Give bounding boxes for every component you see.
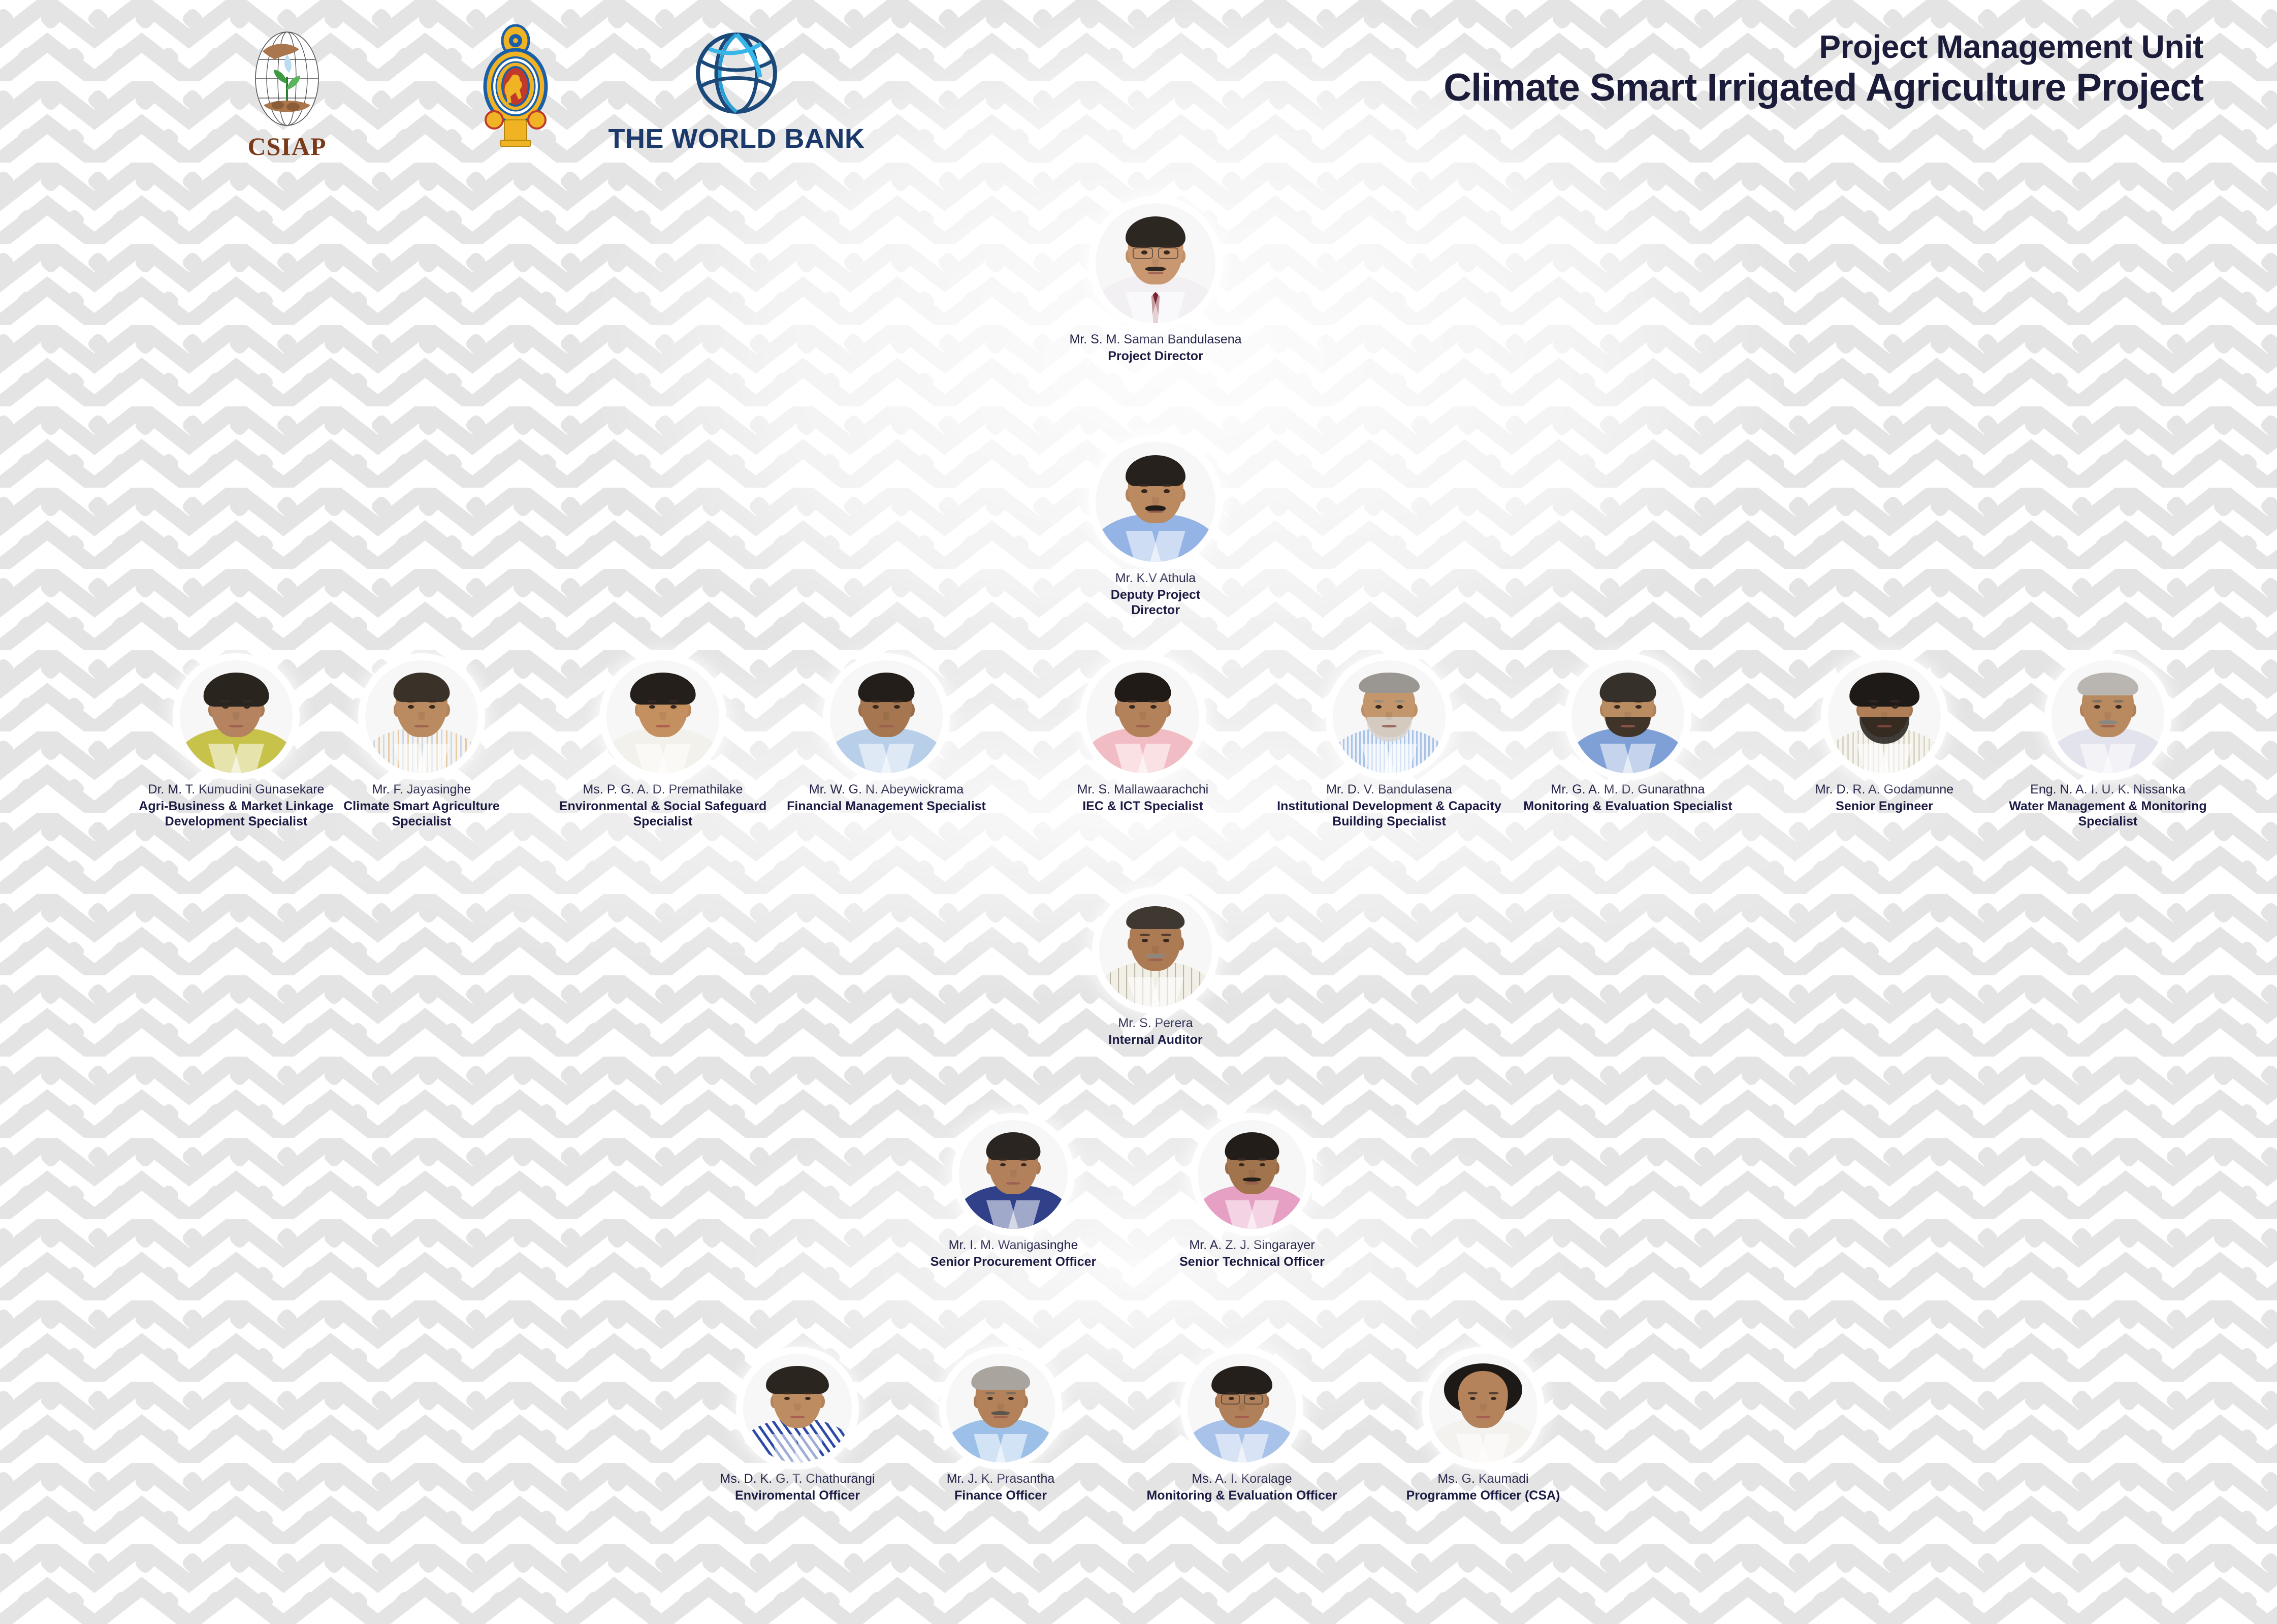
avatar-climate-smart-agriculture-specialist bbox=[365, 660, 478, 773]
person-role: Water Management & Monitoring Specialist bbox=[1996, 799, 2220, 829]
person-card-deputy-project-director[interactable]: Mr. K.V Athula Deputy Project Director bbox=[1087, 442, 1224, 618]
avatar-agri-business-specialist bbox=[180, 660, 293, 773]
person-card-project-director[interactable]: Mr. S. M. Saman Bandulasena Project Dire… bbox=[1087, 203, 1224, 364]
person-role: Programme Officer (CSA) bbox=[1406, 1488, 1560, 1503]
person-role: Monitoring & Evaluation Specialist bbox=[1523, 799, 1732, 814]
person-card-climate-smart-agriculture-specialist[interactable]: Mr. F. Jayasinghe Climate Smart Agricult… bbox=[315, 660, 528, 829]
person-card-water-management-specialist[interactable]: Eng. N. A. I. U. K. Nissanka Water Manag… bbox=[1996, 660, 2220, 829]
person-name: Mr. F. Jayasinghe bbox=[372, 782, 471, 798]
avatar-financial-management-specialist bbox=[830, 660, 943, 773]
person-card-iec-ict-specialist[interactable]: Mr. S. Mallawaarachchi IEC & ICT Special… bbox=[1036, 660, 1249, 814]
person-role: Enviromental Officer bbox=[735, 1488, 860, 1503]
person-card-senior-procurement-officer[interactable]: Mr. I. M. Wanigasinghe Senior Procuremen… bbox=[914, 1120, 1112, 1269]
csiap-logo: CSIAP bbox=[223, 28, 350, 161]
avatar-senior-technical-officer bbox=[1198, 1120, 1306, 1229]
person-role: Financial Management Specialist bbox=[787, 799, 986, 814]
person-name: Ms. A. I. Koralage bbox=[1192, 1472, 1292, 1487]
person-role: Environmental & Social Safeguard Special… bbox=[549, 799, 777, 829]
person-role: Senior Engineer bbox=[1836, 799, 1933, 814]
person-name: Mr. G. A. M. D. Gunarathna bbox=[1551, 782, 1705, 798]
page-title-line2: Climate Smart Irrigated Agriculture Proj… bbox=[1444, 67, 2203, 109]
person-card-monitoring-evaluation-officer[interactable]: Ms. A. I. Koralage Monitoring & Evaluati… bbox=[1130, 1354, 1354, 1503]
avatar-deputy-project-director bbox=[1096, 442, 1215, 562]
world-bank-logo: THE WORLD BANK bbox=[630, 30, 843, 154]
avatar-institutional-development-specialist bbox=[1333, 660, 1446, 773]
person-name: Mr. S. Perera bbox=[1118, 1016, 1193, 1031]
person-name: Mr. K.V Athula bbox=[1115, 571, 1196, 586]
person-name: Mr. J. K. Prasantha bbox=[947, 1472, 1055, 1487]
person-role: Deputy Project Director bbox=[1087, 587, 1224, 618]
person-card-institutional-development-specialist[interactable]: Mr. D. V. Bandulasena Institutional Deve… bbox=[1267, 660, 1511, 829]
person-name: Mr. D. R. A. Godamunne bbox=[1815, 782, 1953, 798]
person-name: Mr. A. Z. J. Singarayer bbox=[1189, 1238, 1314, 1253]
person-card-finance-officer[interactable]: Mr. J. K. Prasantha Finance Officer bbox=[914, 1354, 1087, 1503]
avatar-project-director bbox=[1096, 203, 1215, 323]
avatar-senior-procurement-officer bbox=[959, 1120, 1068, 1229]
avatar-monitoring-evaluation-specialist bbox=[1572, 660, 1684, 773]
person-name: Ms. D. K. G. T. Chathurangi bbox=[720, 1472, 875, 1487]
person-name: Mr. W. G. N. Abeywickrama bbox=[809, 782, 964, 798]
person-name: Ms. G. Kaumadi bbox=[1437, 1472, 1528, 1487]
header: CSIAP bbox=[0, 0, 2277, 183]
person-name: Mr. S. M. Saman Bandulasena bbox=[1069, 332, 1241, 347]
person-name: Ms. P. G. A. D. Premathilake bbox=[583, 782, 743, 798]
person-role: Institutional Development & Capacity Bui… bbox=[1267, 799, 1511, 829]
sri-lanka-government-emblem bbox=[460, 20, 571, 152]
person-card-financial-management-specialist[interactable]: Mr. W. G. N. Abeywickrama Financial Mana… bbox=[767, 660, 1006, 814]
person-card-senior-engineer[interactable]: Mr. D. R. A. Godamunne Senior Engineer bbox=[1778, 660, 1991, 814]
person-card-senior-technical-officer[interactable]: Mr. A. Z. J. Singarayer Senior Technical… bbox=[1158, 1120, 1346, 1269]
person-card-internal-auditor[interactable]: Mr. S. Perera Internal Auditor bbox=[1089, 894, 1222, 1047]
person-role: Senior Procurement Officer bbox=[931, 1254, 1096, 1269]
person-role: Senior Technical Officer bbox=[1179, 1254, 1325, 1269]
person-role: Monitoring & Evaluation Officer bbox=[1146, 1488, 1337, 1503]
page-title-line1: Project Management Unit bbox=[1444, 29, 2203, 65]
person-name: Mr. I. M. Wanigasinghe bbox=[949, 1238, 1078, 1253]
person-role: Climate Smart Agriculture Specialist bbox=[315, 799, 528, 829]
avatar-water-management-specialist bbox=[2051, 660, 2164, 773]
person-card-monitoring-evaluation-specialist[interactable]: Mr. G. A. M. D. Gunarathna Monitoring & … bbox=[1511, 660, 1745, 814]
person-role: Finance Officer bbox=[954, 1488, 1047, 1503]
avatar-finance-officer bbox=[946, 1354, 1055, 1462]
csiap-logo-caption: CSIAP bbox=[247, 132, 326, 161]
person-name: Eng. N. A. I. U. K. Nissanka bbox=[2030, 782, 2186, 798]
person-role: Project Director bbox=[1108, 348, 1203, 364]
avatar-programme-officer-csa bbox=[1429, 1354, 1537, 1462]
person-role: IEC & ICT Specialist bbox=[1082, 799, 1203, 814]
page-title: Project Management Unit Climate Smart Ir… bbox=[1444, 29, 2203, 109]
avatar-iec-ict-specialist bbox=[1086, 660, 1199, 773]
avatar-environmental-social-safeguard-specialist bbox=[606, 660, 719, 773]
csiap-globe-icon bbox=[246, 28, 328, 130]
world-bank-globe-icon bbox=[694, 30, 779, 116]
avatar-environmental-officer bbox=[743, 1354, 852, 1462]
world-bank-logo-caption: THE WORLD BANK bbox=[608, 123, 865, 154]
person-card-environmental-social-safeguard-specialist[interactable]: Ms. P. G. A. D. Premathilake Environment… bbox=[549, 660, 777, 829]
person-name: Dr. M. T. Kumudini Gunasekare bbox=[148, 782, 325, 798]
person-name: Mr. D. V. Bandulasena bbox=[1326, 782, 1452, 798]
person-card-environmental-officer[interactable]: Ms. D. K. G. T. Chathurangi Enviromental… bbox=[698, 1354, 896, 1503]
person-name: Mr. S. Mallawaarachchi bbox=[1077, 782, 1208, 798]
org-chart-board: CSIAP bbox=[0, 0, 2277, 1624]
government-emblem-icon bbox=[465, 20, 566, 152]
person-card-programme-officer-csa[interactable]: Ms. G. Kaumadi Programme Officer (CSA) bbox=[1382, 1354, 1585, 1503]
avatar-monitoring-evaluation-officer bbox=[1188, 1354, 1296, 1462]
avatar-senior-engineer bbox=[1828, 660, 1941, 773]
person-role: Internal Auditor bbox=[1108, 1032, 1202, 1047]
avatar-internal-auditor bbox=[1099, 894, 1212, 1007]
